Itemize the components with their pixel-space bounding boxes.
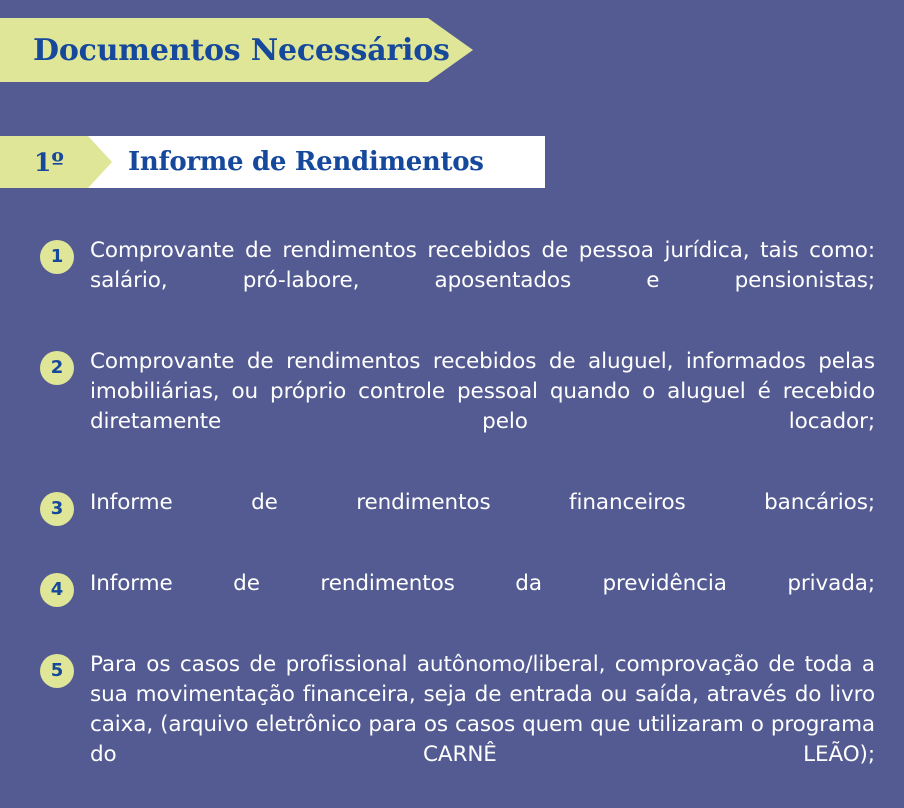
title-banner: Documentos Necessários [0,18,473,82]
list-item: 5Para os casos de profissional autônomo/… [0,650,904,800]
list-item-text: Para os casos de profissional autônomo/l… [90,650,875,800]
page-title: Documentos Necessários [0,33,450,68]
list-item-number-badge: 2 [40,351,74,385]
list-item: 3Informe de rendimentos financeiros banc… [0,488,904,548]
list-item-text: Informe de rendimentos da previdência pr… [90,569,875,629]
documents-list: 1Comprovante de rendimentos recebidos de… [0,236,904,808]
list-item-number-badge: 4 [40,573,74,607]
list-item-text: Comprovante de rendimentos recebidos de … [90,347,875,467]
list-item-text: Informe de rendimentos financeiros bancá… [90,488,875,548]
list-item-text: Comprovante de rendimentos recebidos de … [90,236,875,326]
list-item: 4Informe de rendimentos da previdência p… [0,569,904,629]
list-item-number-badge: 5 [40,654,74,688]
section-number-chevron: 1º [0,136,112,188]
list-item-number-badge: 3 [40,492,74,526]
section-number-label: 1º [0,148,64,177]
list-item-number-badge: 1 [40,240,74,274]
infographic-page: Documentos Necessários Informe de Rendim… [0,0,904,808]
list-item: 2Comprovante de rendimentos recebidos de… [0,347,904,467]
section-banner: Informe de Rendimentos 1º [0,136,545,188]
list-item: 1Comprovante de rendimentos recebidos de… [0,236,904,326]
